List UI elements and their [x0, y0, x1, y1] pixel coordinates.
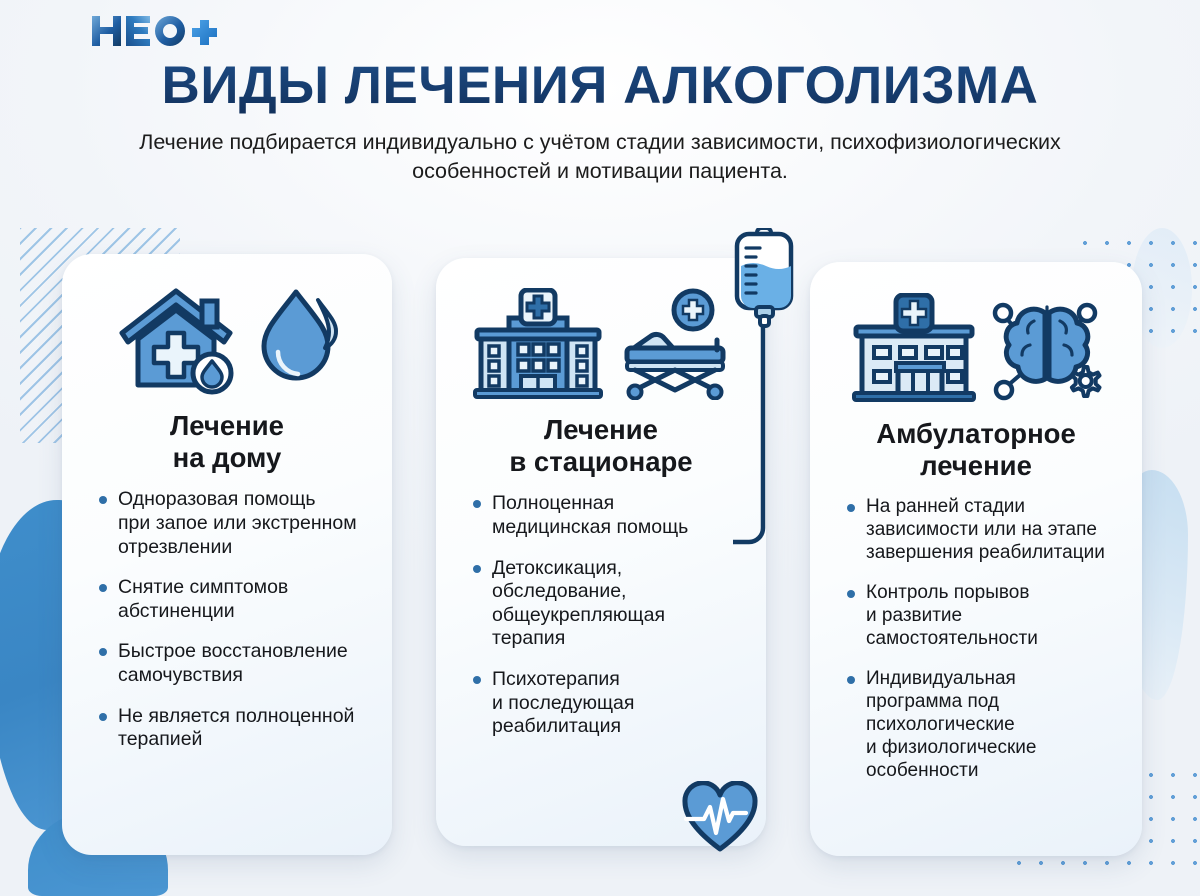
- card-icons-home: [88, 280, 366, 404]
- card-icons-inpatient: [462, 284, 740, 408]
- list-item: Детоксикация, обследование, общеукрепляю…: [470, 557, 740, 651]
- list-item: Не является полноценной терапией: [96, 705, 366, 752]
- card-outpatient-treatment[interactable]: Амбулаторное лечение На ранней стадии за…: [810, 262, 1142, 856]
- card-home-treatment[interactable]: Лечение на дому Одноразовая помощь при з…: [62, 254, 392, 855]
- hospital-building-icon: [473, 288, 603, 405]
- card-title-outpatient: Амбулаторное лечение: [876, 418, 1076, 482]
- list-item: Психотерапия и последующая реабилитация: [470, 668, 740, 739]
- list-item: Быстрое восстановление самочувствия: [96, 640, 366, 687]
- list-item: Снятие симптомов абстиненции: [96, 576, 366, 623]
- card-title-inpatient: Лечение в стационаре: [509, 414, 692, 478]
- clinic-building-icon: [850, 293, 978, 408]
- card-bullets-outpatient: На ранней стадии зависимости или на этап…: [836, 496, 1116, 800]
- page-title: ВИДЫ ЛЕЧЕНИЯ АЛКОГОЛИЗМА: [0, 57, 1200, 114]
- page-header: ВИДЫ ЛЕЧЕНИЯ АЛКОГОЛИЗМА Лечение подбира…: [0, 0, 1200, 186]
- card-inpatient-treatment[interactable]: Лечение в стационаре Полноценная медицин…: [436, 258, 766, 846]
- house-medical-icon: [114, 285, 242, 400]
- list-item: На ранней стадии зависимости или на этап…: [844, 496, 1116, 565]
- hospital-bed-icon: [617, 288, 729, 405]
- list-item: Индивидуальная программа под психологиче…: [844, 668, 1116, 783]
- iv-drip-bag-icon: [733, 228, 803, 563]
- page-subtitle: Лечение подбирается индивидуально с учёт…: [100, 128, 1100, 186]
- card-title-home: Лечение на дому: [170, 410, 284, 474]
- neo-plus-logo: [90, 14, 220, 48]
- water-drop-icon: [256, 286, 340, 399]
- card-icons-outpatient: [836, 288, 1116, 412]
- heart-pulse-icon: [682, 781, 758, 858]
- list-item: Одноразовая помощь при запое или экстрен…: [96, 488, 366, 559]
- list-item: Полноценная медицинская помощь: [470, 492, 740, 539]
- brain-gear-icon: [992, 293, 1102, 408]
- card-bullets-inpatient: Полноценная медицинская помощь Детоксика…: [462, 492, 740, 755]
- card-bullets-home: Одноразовая помощь при запое или экстрен…: [88, 488, 366, 768]
- list-item: Контроль порывов и развитие самостоятель…: [844, 582, 1116, 651]
